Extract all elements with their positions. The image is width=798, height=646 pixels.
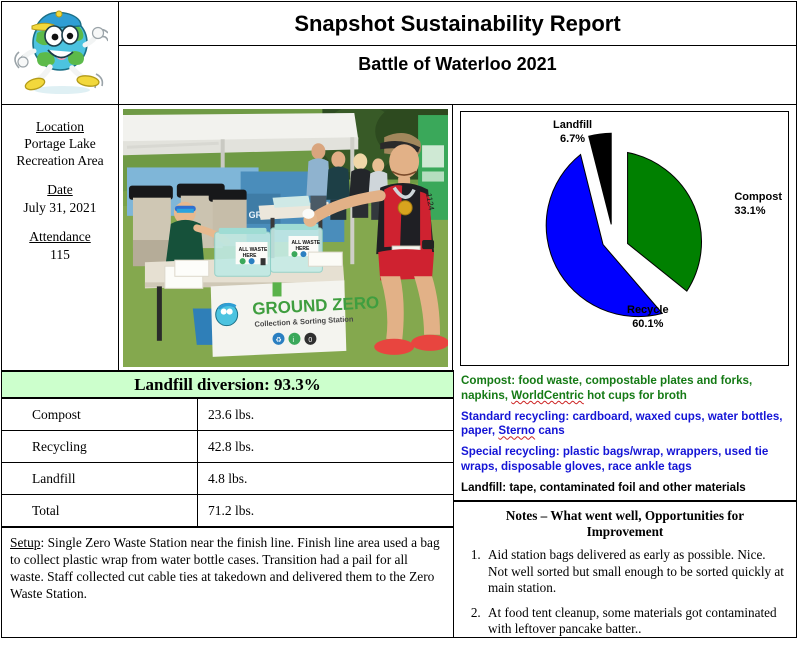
- legend-compost-head: Compost:: [461, 374, 515, 387]
- materials-and-notes-column: Compost: food waste, compostable plates …: [454, 370, 796, 638]
- info-date: Date July 31, 2021: [2, 182, 118, 216]
- svg-text:HERE: HERE: [243, 253, 257, 259]
- pie-label-compost: Compost 33.1%: [734, 191, 782, 219]
- legend-standard-head: Standard recycling:: [461, 410, 569, 423]
- setup-label: Setup: [10, 535, 41, 550]
- pie-slice-compost: [628, 152, 702, 291]
- table-row: Compost 23.6 lbs.: [2, 399, 453, 431]
- legend-landfill-text: tape, contaminated foil and other materi…: [506, 481, 746, 494]
- title-cell: Snapshot Sustainability Report Battle of…: [119, 2, 796, 104]
- svg-text:0: 0: [308, 337, 312, 344]
- event-photo-cell: GR: [119, 105, 453, 370]
- legend-standard-brand: Sterno: [498, 424, 535, 437]
- event-photo: GR: [123, 109, 448, 367]
- report-page: Snapshot Sustainability Report Battle of…: [1, 1, 797, 638]
- logo-cell: [2, 2, 119, 104]
- legend-compost: Compost: food waste, compostable plates …: [461, 374, 790, 404]
- legend-standard-text-b: cans: [535, 424, 565, 437]
- waste-weights-table: Compost 23.6 lbs. Recycling 42.8 lbs. La…: [2, 399, 453, 528]
- location-value: Portage Lake Recreation Area: [2, 136, 118, 169]
- info-attendance: Attendance 115: [2, 229, 118, 263]
- event-info-panel: Location Portage Lake Recreation Area Da…: [2, 105, 119, 370]
- setup-text: : Single Zero Waste Station near the fin…: [10, 535, 440, 601]
- pie-chart: Landfill 6.7% Compost 33.1% Recycle 60.1…: [460, 111, 789, 366]
- running-globe-mascot-icon: [12, 5, 108, 102]
- page-subtitle: Battle of Waterloo 2021: [119, 46, 796, 104]
- date-label: Date: [2, 182, 118, 198]
- table-row: Recycling 42.8 lbs.: [2, 431, 453, 463]
- svg-text:♻: ♻: [276, 337, 282, 344]
- metrics-column: Landfill diversion: 93.3% Compost 23.6 l…: [2, 370, 454, 638]
- notes-title: Notes – What went well, Opportunities fo…: [472, 508, 778, 540]
- setup-description: Setup: Single Zero Waste Station near th…: [2, 528, 453, 638]
- legend-compost-brand: WorldCentric: [511, 389, 584, 402]
- legend-special-head: Special recycling:: [461, 445, 560, 458]
- lower-band: Landfill diversion: 93.3% Compost 23.6 l…: [2, 370, 796, 638]
- row-key: Landfill: [2, 463, 198, 495]
- materials-legend: Compost: food waste, compostable plates …: [454, 370, 796, 500]
- row-value: 42.8 lbs.: [198, 431, 454, 463]
- notes-list: Aid station bags delivered as early as p…: [462, 547, 788, 638]
- list-item: Aid station bags delivered as early as p…: [484, 547, 786, 597]
- notes-section: Notes – What went well, Opportunities fo…: [454, 500, 796, 646]
- row-value: 4.8 lbs.: [198, 463, 454, 495]
- list-item: At food tent cleanup, some materials got…: [484, 605, 786, 638]
- row-key: Compost: [2, 399, 198, 431]
- attendance-label: Attendance: [2, 229, 118, 245]
- pie-label-landfill: Landfill 6.7%: [553, 119, 592, 147]
- waste-breakdown-chart-cell: Landfill 6.7% Compost 33.1% Recycle 60.1…: [453, 105, 796, 370]
- legend-standard-recycling: Standard recycling: cardboard, waxed cup…: [461, 410, 790, 440]
- row-value: 71.2 lbs.: [198, 495, 454, 528]
- legend-landfill-head: Landfill:: [461, 481, 506, 494]
- page-title: Snapshot Sustainability Report: [119, 2, 796, 46]
- date-value: July 31, 2021: [2, 200, 118, 216]
- legend-compost-text-b: hot cups for broth: [584, 389, 687, 402]
- table-row: Landfill 4.8 lbs.: [2, 463, 453, 495]
- legend-landfill: Landfill: tape, contaminated foil and ot…: [461, 481, 790, 496]
- location-label: Location: [2, 119, 118, 135]
- middle-band: Location Portage Lake Recreation Area Da…: [2, 105, 796, 370]
- row-value: 23.6 lbs.: [198, 399, 454, 431]
- table-row: Total 71.2 lbs.: [2, 495, 453, 528]
- row-key: Total: [2, 495, 198, 528]
- row-key: Recycling: [2, 431, 198, 463]
- landfill-diversion-banner: Landfill diversion: 93.3%: [2, 370, 453, 399]
- legend-special-recycling: Special recycling: plastic bags/wrap, wr…: [461, 445, 790, 475]
- info-location: Location Portage Lake Recreation Area: [2, 119, 118, 169]
- pie-label-recycle: Recycle 60.1%: [627, 304, 669, 332]
- attendance-value: 115: [2, 247, 118, 263]
- report-header: Snapshot Sustainability Report Battle of…: [2, 2, 796, 105]
